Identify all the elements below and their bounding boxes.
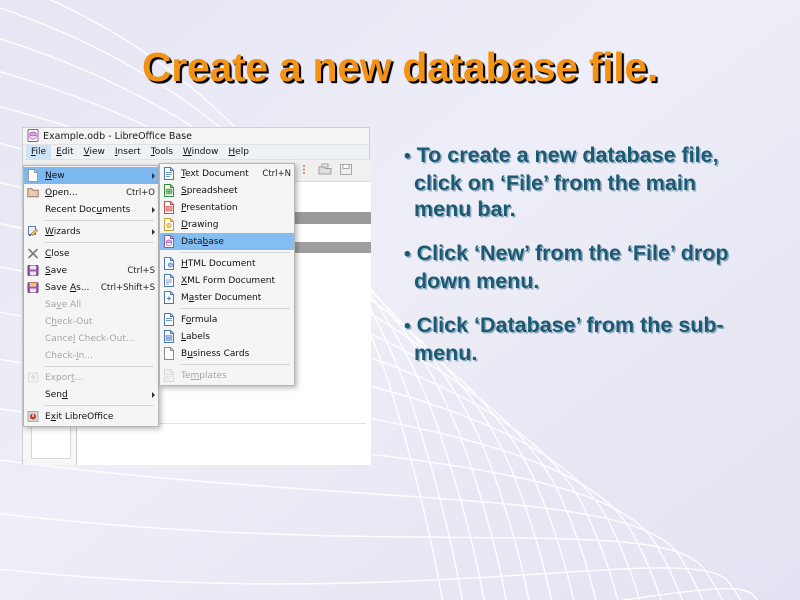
drawing-icon: [163, 218, 176, 231]
new-document-icon: [27, 169, 40, 182]
submenu-item-spreadsheet-label: Spreadsheet: [181, 186, 291, 196]
menu-item-cancel-check-out-label: Cancel Check-Out...: [45, 334, 155, 344]
bullet-item-1: • To create a new database file, click o…: [404, 142, 752, 222]
menu-item-new[interactable]: New: [24, 167, 158, 184]
chevron-right-icon: [152, 392, 155, 398]
menu-item-save-shortcut: Ctrl+S: [127, 266, 155, 276]
templates-icon: [163, 369, 176, 382]
menubar-item-help[interactable]: Help: [223, 145, 254, 160]
xml-form-icon: [163, 274, 176, 287]
menu-item-save-as-label: Save As...: [45, 283, 95, 293]
menu-item-send-label: Send: [45, 390, 146, 400]
submenu-item-text-document-label: Text Document: [181, 169, 256, 179]
menu-item-save-as-shortcut: Ctrl+Shift+S: [101, 283, 155, 293]
labels-icon: [163, 330, 176, 343]
menu-item-cancel-check-out: Cancel Check-Out...: [24, 330, 158, 347]
menubar[interactable]: File Edit View Insert Tools Window Help: [23, 145, 369, 160]
menu-item-save-all-label: Save All: [45, 300, 155, 310]
menubar-item-insert[interactable]: Insert: [110, 145, 146, 160]
submenu-item-labels[interactable]: Labels: [160, 328, 294, 345]
menu-item-export: Export...: [24, 369, 158, 386]
no-icon: [27, 388, 40, 401]
open-folder-icon: [27, 186, 40, 199]
bullet-marker-1: •: [404, 146, 411, 167]
menu-item-save-all: Save All: [24, 296, 158, 313]
submenu-item-master-document[interactable]: Master Document: [160, 289, 294, 306]
menu-item-save-label: Save: [45, 266, 121, 276]
menu-item-save[interactable]: Save Ctrl+S: [24, 262, 158, 279]
menu-item-wizards-label: Wizards: [45, 227, 146, 237]
chevron-right-icon: [152, 207, 155, 213]
submenu-item-templates: Templates: [160, 367, 294, 384]
business-cards-icon: [163, 347, 176, 360]
file-dropdown-menu[interactable]: New Open... Ctrl+O Recent Documents Wiza…: [23, 165, 159, 427]
bullet-text-1: To create a new database file, click on …: [414, 143, 719, 221]
submenu-item-html-document[interactable]: HTML Document: [160, 255, 294, 272]
no-icon: [27, 203, 40, 216]
bullet-text-3: Click ‘Database’ from the sub-menu.: [414, 313, 724, 365]
menu-item-wizards[interactable]: Wizards: [24, 223, 158, 240]
submenu-item-business-cards[interactable]: Business Cards: [160, 345, 294, 362]
chevron-right-icon: [152, 229, 155, 235]
right-pane-card: [80, 423, 366, 459]
menu-item-close-label: Close: [45, 249, 155, 259]
submenu-item-database-label: Database: [181, 237, 291, 247]
submenu-item-templates-label: Templates: [181, 371, 285, 381]
menu-item-open[interactable]: Open... Ctrl+O: [24, 184, 158, 201]
presentation-icon: [163, 201, 176, 214]
menu-item-exit-libreoffice[interactable]: Exit LibreOffice: [24, 408, 158, 425]
database-icon: [163, 235, 176, 248]
no-icon: [27, 298, 40, 311]
spreadsheet-icon: [163, 184, 176, 197]
menu-item-export-label: Export...: [45, 373, 155, 383]
submenu-item-presentation[interactable]: Presentation: [160, 199, 294, 216]
menubar-item-tools[interactable]: Tools: [146, 145, 178, 160]
menu-item-recent-documents[interactable]: Recent Documents: [24, 201, 158, 218]
text-document-icon: [163, 167, 176, 180]
menu-item-new-label: New: [45, 171, 146, 181]
submenu-item-formula[interactable]: Formula: [160, 311, 294, 328]
no-icon: [27, 332, 40, 345]
submenu-separator: [180, 308, 290, 309]
menu-item-open-shortcut: Ctrl+O: [126, 188, 155, 198]
menu-item-close[interactable]: Close: [24, 245, 158, 262]
wizard-wand-icon: [27, 225, 40, 238]
submenu-separator: [180, 252, 290, 253]
submenu-item-drawing-label: Drawing: [181, 220, 291, 230]
no-icon: [27, 349, 40, 362]
submenu-item-spreadsheet[interactable]: Spreadsheet: [160, 182, 294, 199]
menubar-item-window[interactable]: Window: [178, 145, 224, 160]
bullet-marker-3: •: [404, 316, 411, 337]
submenu-item-html-document-label: HTML Document: [181, 259, 291, 269]
save-floppy-icon: [27, 264, 40, 277]
html-document-icon: [163, 257, 176, 270]
menu-item-check-in-label: Check-In...: [45, 351, 155, 361]
left-pane-card: [31, 423, 71, 459]
menu-item-save-as[interactable]: Save As... Ctrl+Shift+S: [24, 279, 158, 296]
bullet-text-2: Click ‘New’ from the ‘File’ drop down me…: [414, 241, 728, 293]
menu-item-recent-documents-label: Recent Documents: [45, 205, 146, 215]
no-icon: [27, 315, 40, 328]
close-x-icon: [27, 247, 40, 260]
open-file-icon[interactable]: [318, 161, 332, 180]
submenu-item-xml-form-document[interactable]: XML Form Document: [160, 272, 294, 289]
submenu-item-formula-label: Formula: [181, 315, 291, 325]
menu-separator: [44, 405, 154, 406]
bullet-item-2: • Click ‘New’ from the ‘File’ drop down …: [404, 240, 752, 294]
toolbar-separator-icon: [297, 161, 311, 180]
chevron-right-icon: [152, 173, 155, 179]
menu-item-exit-label: Exit LibreOffice: [45, 412, 149, 422]
submenu-item-business-cards-label: Business Cards: [181, 349, 291, 359]
submenu-item-presentation-label: Presentation: [181, 203, 291, 213]
menubar-item-edit[interactable]: Edit: [51, 145, 78, 160]
menu-item-send[interactable]: Send: [24, 386, 158, 403]
bullet-list: • To create a new database file, click o…: [404, 142, 752, 384]
submenu-item-drawing[interactable]: Drawing: [160, 216, 294, 233]
submenu-separator: [180, 364, 290, 365]
submenu-item-master-document-label: Master Document: [181, 293, 291, 303]
save-icon[interactable]: [339, 161, 353, 180]
menu-separator: [44, 220, 154, 221]
submenu-item-database[interactable]: Database: [160, 233, 294, 250]
export-icon: [27, 371, 40, 384]
save-as-floppy-icon: [27, 281, 40, 294]
menu-item-open-label: Open...: [45, 188, 120, 198]
submenu-item-xml-form-document-label: XML Form Document: [181, 276, 291, 286]
submenu-item-text-document[interactable]: Text Document Ctrl+N: [160, 165, 294, 182]
menu-separator: [44, 242, 154, 243]
menu-item-check-out: Check-Out: [24, 313, 158, 330]
libreoffice-base-icon: [27, 127, 39, 146]
page-title: Create a new database file.: [0, 44, 800, 91]
new-submenu[interactable]: Text Document Ctrl+N Spreadsheet Present…: [159, 163, 295, 386]
exit-icon: [27, 410, 40, 423]
bullet-item-3: • Click ‘Database’ from the sub-menu.: [404, 312, 752, 366]
window-titlebar: Example.odb - LibreOffice Base: [23, 128, 369, 145]
master-document-icon: [163, 291, 176, 304]
menu-item-check-out-label: Check-Out: [45, 317, 155, 327]
menubar-item-view[interactable]: View: [79, 145, 110, 160]
menu-separator: [44, 366, 154, 367]
menu-item-check-in: Check-In...: [24, 347, 158, 364]
bullet-marker-2: •: [404, 244, 411, 265]
formula-icon: [163, 313, 176, 326]
window-title-text: Example.odb - LibreOffice Base: [43, 131, 192, 142]
submenu-item-text-document-shortcut: Ctrl+N: [262, 169, 291, 179]
submenu-item-labels-label: Labels: [181, 332, 291, 342]
menubar-item-file[interactable]: File: [26, 145, 51, 160]
